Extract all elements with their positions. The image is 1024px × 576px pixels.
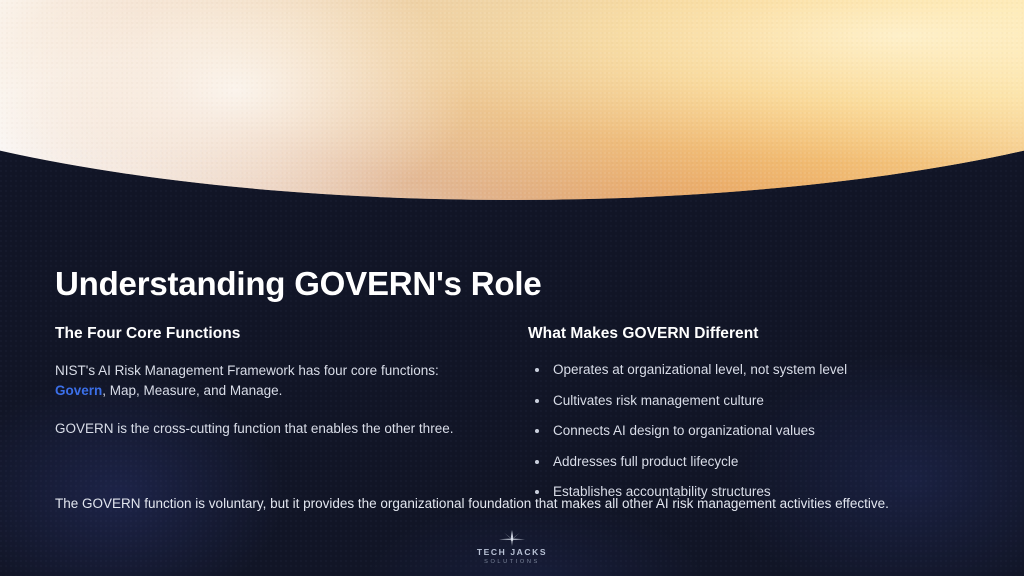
paragraph-1-text-before: NIST's AI Risk Management Framework has …: [55, 363, 439, 378]
brand-logo: TECH JACKS SOLUTIONS: [0, 530, 1024, 566]
bullet-dot-icon: [535, 368, 539, 372]
slide: Understanding GOVERN's Role The Four Cor…: [0, 0, 1024, 576]
list-item-label: Addresses full product lifecycle: [553, 454, 738, 469]
page-title: Understanding GOVERN's Role: [55, 265, 542, 303]
right-column-heading: What Makes GOVERN Different: [528, 325, 978, 343]
right-column: What Makes GOVERN Different Operates at …: [528, 325, 978, 501]
list-item-label: Cultivates risk management culture: [553, 393, 764, 408]
logo-company-subtitle: SOLUTIONS: [0, 558, 1024, 566]
paragraph-1-text-after: , Map, Measure, and Manage.: [102, 383, 282, 398]
benefits-bullet-list: Operates at organizational level, not sy…: [528, 361, 978, 501]
bullet-dot-icon: [535, 399, 539, 403]
logo-company-name: TECH JACKS: [0, 547, 1024, 557]
footnote-text: The GOVERN function is voluntary, but it…: [55, 494, 985, 513]
slide-content: Understanding GOVERN's Role The Four Cor…: [0, 0, 1024, 576]
left-column-heading: The Four Core Functions: [55, 325, 505, 343]
list-item: Connects AI design to organizational val…: [528, 422, 978, 440]
list-item: Addresses full product lifecycle: [528, 453, 978, 471]
list-item-label: Connects AI design to organizational val…: [553, 423, 815, 438]
bullet-dot-icon: [535, 429, 539, 433]
list-item-label: Operates at organizational level, not sy…: [553, 362, 847, 377]
list-item: Cultivates risk management culture: [528, 392, 978, 410]
left-column-paragraph-1: NIST's AI Risk Management Framework has …: [55, 361, 480, 401]
list-item: Operates at organizational level, not sy…: [528, 361, 978, 379]
bullet-dot-icon: [535, 460, 539, 464]
star-burst-icon: [499, 530, 525, 546]
left-column-paragraph-2: GOVERN is the cross-cutting function tha…: [55, 419, 480, 439]
govern-accent-text: Govern: [55, 383, 102, 398]
left-column: The Four Core Functions NIST's AI Risk M…: [55, 325, 505, 439]
